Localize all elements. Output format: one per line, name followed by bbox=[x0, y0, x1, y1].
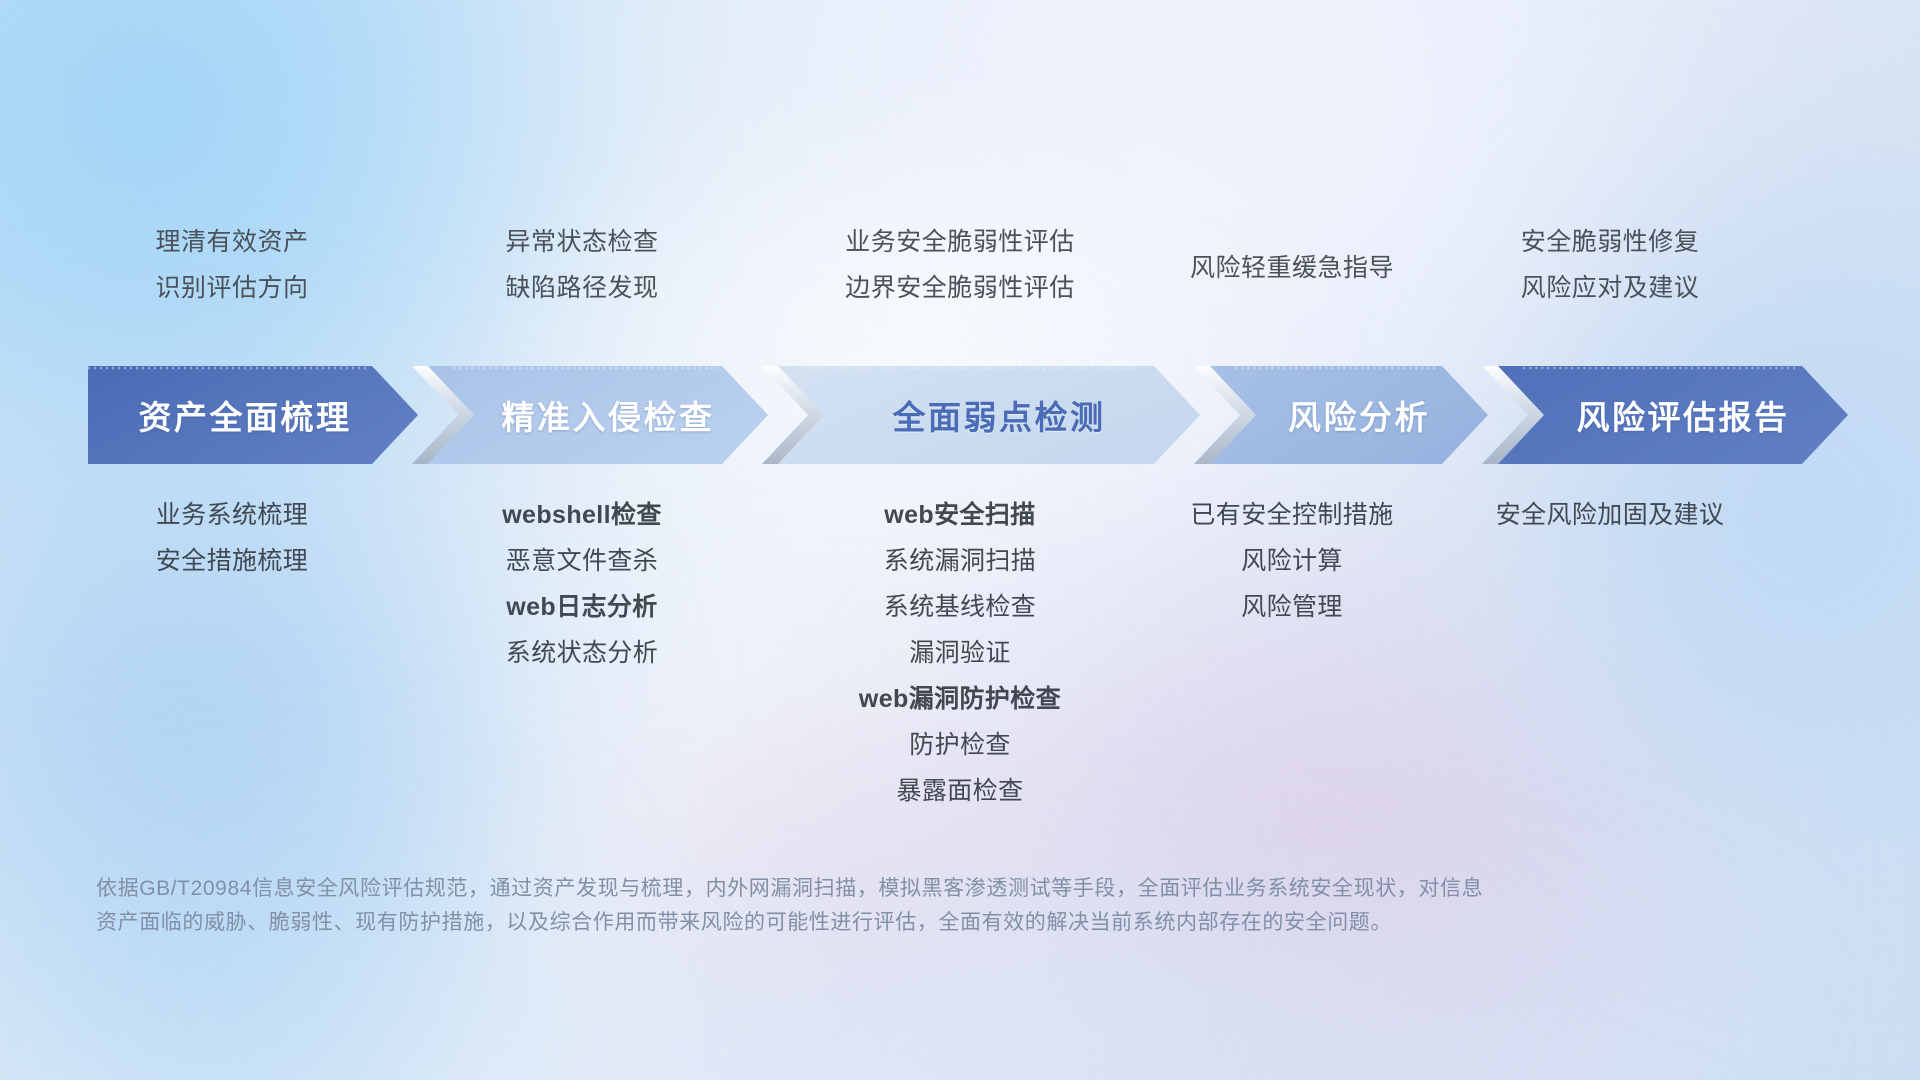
top-caption-item: 风险应对及建议 bbox=[1521, 274, 1700, 304]
bottom-detail-item: 已有安全控制措施 bbox=[1190, 500, 1393, 530]
bottom-detail-item: 漏洞验证 bbox=[909, 638, 1011, 668]
bottom-detail-item: web日志分析 bbox=[506, 592, 657, 622]
bottom-detail-column-weakness-detection: web安全扫描系统漏洞扫描系统基线检查漏洞验证web漏洞防护检查防护检查暴露面检… bbox=[750, 500, 1170, 806]
top-caption-item: 边界安全脆弱性评估 bbox=[845, 274, 1075, 304]
bottom-detail-item: 系统基线检查 bbox=[884, 592, 1036, 622]
top-caption-item: 风险轻重缓急指导 bbox=[1190, 254, 1394, 284]
bottom-detail-column-intrusion-check: webshell检查恶意文件查杀web日志分析系统状态分析 bbox=[417, 500, 747, 668]
bottom-detail-column-asset-inventory: 业务系统梳理安全措施梳理 bbox=[82, 500, 382, 576]
bottom-detail-item: 风险管理 bbox=[1241, 592, 1343, 622]
footer-line: 资产面临的威胁、脆弱性、现有防护措施，以及综合作用而带来风险的可能性进行评估，全… bbox=[96, 906, 1776, 940]
stage-arrow-shapes bbox=[88, 366, 1848, 464]
bottom-detail-item: 安全风险加固及建议 bbox=[1496, 500, 1725, 530]
top-caption-item: 缺陷路径发现 bbox=[505, 274, 658, 304]
top-caption-column-intrusion-check: 异常状态检查缺陷路径发现 bbox=[417, 228, 747, 303]
bottom-detail-item: 系统状态分析 bbox=[506, 638, 658, 668]
top-caption-column-risk-analysis: 风险轻重缓急指导 bbox=[1127, 254, 1457, 284]
bottom-detail-item: 暴露面检查 bbox=[896, 776, 1023, 806]
top-caption-column-asset-inventory: 理清有效资产识别评估方向 bbox=[82, 228, 382, 303]
bottom-detail-item: 恶意文件查杀 bbox=[506, 546, 658, 576]
top-caption-column-weakness-detection: 业务安全脆弱性评估边界安全脆弱性评估 bbox=[750, 228, 1170, 303]
top-caption-item: 异常状态检查 bbox=[505, 228, 658, 258]
top-caption-item: 识别评估方向 bbox=[155, 274, 308, 304]
bottom-detail-item: webshell检查 bbox=[502, 500, 662, 530]
bottom-detail-item: 防护检查 bbox=[909, 730, 1011, 760]
bottom-detail-column-risk-report: 安全风险加固及建议 bbox=[1420, 500, 1800, 530]
bottom-detail-item: web安全扫描 bbox=[884, 500, 1035, 530]
top-caption-column-risk-report: 安全脆弱性修复风险应对及建议 bbox=[1420, 228, 1800, 303]
top-caption-item: 业务安全脆弱性评估 bbox=[845, 228, 1075, 258]
bottom-detail-item: 系统漏洞扫描 bbox=[884, 546, 1036, 576]
stage-arrow-weakness-detection[interactable] bbox=[778, 366, 1200, 464]
bottom-detail-item: 业务系统梳理 bbox=[156, 500, 308, 530]
bottom-detail-item: web漏洞防护检查 bbox=[859, 684, 1061, 714]
bottom-detail-column-risk-analysis: 已有安全控制措施风险计算风险管理 bbox=[1127, 500, 1457, 622]
top-caption-item: 理清有效资产 bbox=[155, 228, 308, 258]
stage-arrow-band: 资产全面梳理精准入侵检查全面弱点检测风险分析风险评估报告 bbox=[88, 366, 1848, 464]
bottom-detail-item: 风险计算 bbox=[1241, 546, 1343, 576]
footer-line: 依据GB/T20984信息安全风险评估规范，通过资产发现与梳理，内外网漏洞扫描，… bbox=[96, 872, 1776, 906]
top-caption-item: 安全脆弱性修复 bbox=[1521, 228, 1700, 258]
stage-arrow-intrusion-check[interactable] bbox=[428, 366, 768, 464]
footer-description: 依据GB/T20984信息安全风险评估规范，通过资产发现与梳理，内外网漏洞扫描，… bbox=[96, 872, 1776, 940]
stage-arrow-risk-report[interactable] bbox=[1498, 366, 1848, 464]
stage-arrow-asset-inventory[interactable] bbox=[88, 366, 418, 464]
bottom-detail-item: 安全措施梳理 bbox=[156, 546, 308, 576]
process-diagram: 理清有效资产识别评估方向异常状态检查缺陷路径发现业务安全脆弱性评估边界安全脆弱性… bbox=[0, 0, 1920, 1080]
